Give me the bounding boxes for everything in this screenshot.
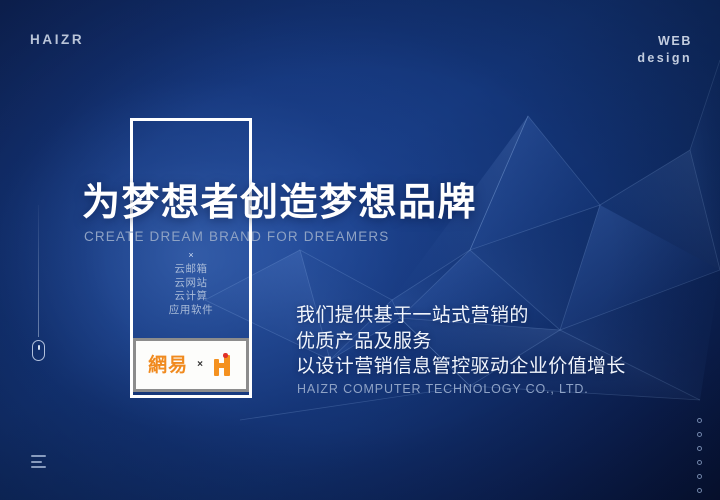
pagination-dot[interactable] [697,474,702,479]
pagination-dot[interactable] [697,460,702,465]
pagination-dot[interactable] [697,488,702,493]
hamburger-menu-icon[interactable] [31,455,46,468]
hamburger-bar-2 [31,461,42,463]
haizr-h-mark-icon [212,353,234,377]
pagination-dot[interactable] [697,432,702,437]
service-list: 云邮箱 云网站 云计算 应用软件 [130,263,252,317]
h-mark-red-dot [223,353,228,358]
corner-label: WEB design [637,33,692,67]
service-item-cloud-site[interactable]: 云网站 [130,277,252,291]
pagination-dot[interactable] [697,446,702,451]
netease-wordmark: 網易 [148,356,188,375]
hamburger-bar-3 [31,466,46,468]
slide-canvas: HAIZR WEB design 为梦想者创造梦想品牌 CREATE DREAM… [0,0,720,500]
brand-logo[interactable]: HAIZR [30,32,84,47]
body-copy-line-3: 以设计营销信息管控驱动企业价值增长 [296,354,626,380]
service-item-cloud-computing[interactable]: 云计算 [130,290,252,304]
rail-divider-line [38,205,39,337]
page-subtitle: CREATE DREAM BRAND FOR DREAMERS [84,229,389,244]
edge-vignette [0,0,720,500]
body-copy-line-2: 优质产品及服务 [296,329,626,355]
pagination-dot[interactable] [697,418,702,423]
company-name-line: HAIZR COMPUTER TECHNOLOGY CO., LTD. [297,382,589,396]
body-copy: 我们提供基于一站式营销的 优质产品及服务 以设计营销信息管控驱动企业价值增长 [296,303,626,380]
page-title: 为梦想者创造梦想品牌 [82,181,477,225]
corner-label-line2: design [637,50,692,67]
h-mark-crossbar [214,363,230,368]
mouse-scroll-icon[interactable] [32,340,45,361]
service-separator-icon: × [130,250,252,260]
pagination-dots[interactable] [697,418,702,493]
partner-logo-card[interactable]: 網易 × [133,338,249,392]
hamburger-bar-1 [31,455,46,457]
background-polygon-art [0,0,720,500]
service-item-cloud-mail[interactable]: 云邮箱 [130,263,252,277]
service-item-app-software[interactable]: 应用软件 [130,304,252,318]
corner-label-line1: WEB [637,33,692,50]
body-copy-line-1: 我们提供基于一站式营销的 [296,303,626,329]
logo-separator-icon: × [197,360,203,370]
